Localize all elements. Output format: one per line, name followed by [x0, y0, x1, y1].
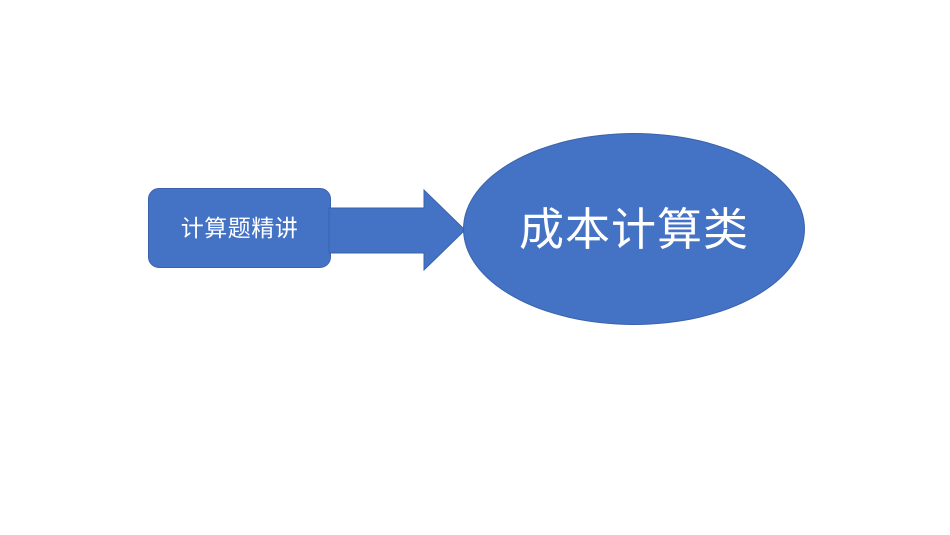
block-arrow-icon	[329, 188, 469, 274]
node-target-label: 成本计算类	[519, 207, 749, 252]
slide-canvas: 计算题精讲 成本计算类	[0, 0, 950, 535]
connector-block-arrow-right[interactable]	[329, 188, 469, 274]
node-source-label: 计算题精讲	[181, 217, 299, 240]
node-ellipse-target[interactable]: 成本计算类	[463, 133, 805, 325]
node-rounded-rectangle-source[interactable]: 计算题精讲	[148, 188, 331, 268]
